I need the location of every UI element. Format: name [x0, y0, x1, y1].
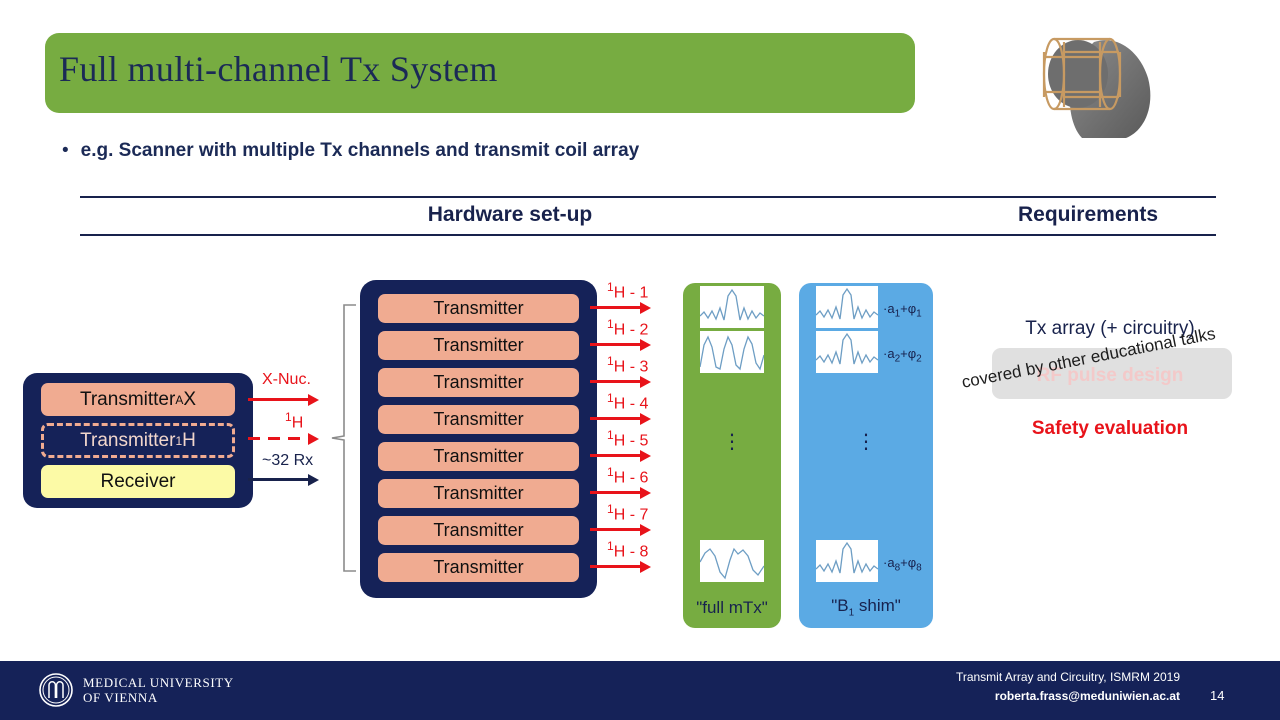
- tx-channel-8: Transmitter: [378, 553, 579, 582]
- coef-plus: +φ: [900, 555, 916, 570]
- tx-output-line-4: [590, 417, 642, 420]
- tx-channel-4: Transmitter: [378, 405, 579, 434]
- scanner-row-label: Receiver: [101, 471, 176, 493]
- txt: H - 5: [614, 432, 649, 449]
- coefficient-2: ·a2+φ2: [883, 346, 922, 365]
- scanner-row-transmitter-x: Transmitter A X: [41, 383, 235, 416]
- coef-prefix: ·a: [883, 301, 895, 316]
- scanner-row-superscript: 1: [175, 434, 182, 448]
- tx-output-line-2: [590, 343, 642, 346]
- txt: H - 2: [614, 321, 649, 338]
- sup: 1: [607, 465, 614, 479]
- tx-output-label-5: 1H - 5: [607, 428, 648, 450]
- panel-label-main: "B: [831, 596, 848, 615]
- arrow-label-x-nuc: X-Nuc.: [262, 371, 311, 389]
- tx-channel-1: Transmitter: [378, 294, 579, 323]
- fanout-bracket: [330, 303, 358, 573]
- tx-output-head-1: [640, 302, 651, 314]
- txt: H - 1: [614, 284, 649, 301]
- column-header-requirements: Requirements: [960, 203, 1216, 227]
- waveform-sinc-blue-1: [816, 286, 878, 328]
- sup: 1: [607, 391, 614, 405]
- coef-sub2: 8: [916, 563, 922, 574]
- page-title: Full multi-channel Tx System: [59, 48, 498, 90]
- bullet-text: e.g. Scanner with multiple Tx channels a…: [81, 138, 640, 164]
- arrow-line-rx: [248, 478, 310, 481]
- tx-output-label-8: 1H - 8: [607, 539, 648, 561]
- bullet-row: • e.g. Scanner with multiple Tx channels…: [62, 138, 962, 164]
- scanner-row-label: Transmitter: [80, 389, 175, 411]
- arrow-line-x-nuc: [248, 398, 310, 401]
- panel-full-mtx: ⋮ "full mTx": [683, 283, 781, 628]
- tx-output-line-5: [590, 454, 642, 457]
- tx-output-label-1: 1H - 1: [607, 280, 648, 302]
- logo-text: MEDICAL UNIVERSITY OF VIENNA: [83, 675, 234, 705]
- coef-prefix: ·a: [883, 346, 895, 361]
- tx-output-label-6: 1H - 6: [607, 465, 648, 487]
- tx-output-label-3: 1H - 3: [607, 354, 648, 376]
- tx-output-head-4: [640, 413, 651, 425]
- waveform-sinc-green: [700, 286, 764, 328]
- sup: 1: [607, 428, 614, 442]
- coef-prefix: ·a: [883, 555, 895, 570]
- vertical-ellipsis-green: ⋮: [683, 438, 781, 447]
- requirement-safety-evaluation: Safety evaluation: [960, 418, 1260, 440]
- tx-channel-5: Transmitter: [378, 442, 579, 471]
- tx-output-line-8: [590, 565, 642, 568]
- arrow-head-1h: [308, 433, 319, 445]
- sup: 1: [607, 317, 614, 331]
- arrow-label-32-rx: ~32 Rx: [262, 452, 313, 470]
- logo-emblem-icon: [38, 672, 74, 708]
- waveform-sinc-blue-2: [816, 331, 878, 373]
- tx-channel-3: Transmitter: [378, 368, 579, 397]
- panel-label-full-mtx: "full mTx": [683, 598, 781, 618]
- footer-email: roberta.frass@meduniwien.ac.at: [840, 689, 1180, 703]
- coefficient-1: ·a1+φ1: [883, 301, 922, 320]
- panel-b1-shim: ·a1+φ1 ·a2+φ2 ⋮ ·a8+φ8 "B1 shim": [799, 283, 933, 628]
- scanner-row-nucleus: H: [182, 430, 196, 452]
- arrow-head-rx: [308, 474, 319, 486]
- arrow-line-1h-dashed: [248, 437, 310, 440]
- tx-output-head-2: [640, 339, 651, 351]
- waveform-sinusoid-green: [700, 331, 764, 373]
- sup: 1: [607, 502, 614, 516]
- scanner-row-superscript: A: [175, 393, 183, 407]
- logo-line-2: OF VIENNA: [83, 690, 234, 705]
- birdcage-coil-photo: [1022, 12, 1162, 140]
- txt: H - 8: [614, 543, 649, 560]
- coef-plus: +φ: [900, 301, 916, 316]
- coefficient-8: ·a8+φ8: [883, 555, 922, 574]
- coef-sub2: 1: [916, 309, 922, 320]
- sup: 1: [607, 280, 614, 294]
- footer-conference: Transmit Array and Circuitry, ISMRM 2019: [840, 670, 1180, 684]
- waveform-irregular-green: [700, 540, 764, 582]
- coef-sub2: 2: [916, 354, 922, 365]
- tx-output-line-7: [590, 528, 642, 531]
- arrow-label-1h-rest: H: [292, 414, 304, 431]
- txt: H - 7: [614, 506, 649, 523]
- tx-output-line-6: [590, 491, 642, 494]
- column-header-hardware: Hardware set-up: [300, 203, 720, 227]
- header-rule-bottom: [80, 234, 1216, 236]
- panel-label-tail: shim": [854, 596, 901, 615]
- scanner-box: Transmitter A X Transmitter 1 H Receiver: [23, 373, 253, 508]
- arrow-head-x-nuc: [308, 394, 319, 406]
- multi-tx-box: Transmitter Transmitter Transmitter Tran…: [360, 280, 597, 598]
- tx-channel-2: Transmitter: [378, 331, 579, 360]
- scanner-row-nucleus: X: [183, 389, 196, 411]
- txt: H - 6: [614, 469, 649, 486]
- txt: H - 4: [614, 395, 649, 412]
- txt: H - 3: [614, 358, 649, 375]
- coef-plus: +φ: [900, 346, 916, 361]
- tx-output-head-6: [640, 487, 651, 499]
- arrow-label-1h-sup: 1: [285, 410, 292, 424]
- tx-output-label-7: 1H - 7: [607, 502, 648, 524]
- sup: 1: [607, 354, 614, 368]
- tx-output-head-8: [640, 561, 651, 573]
- sup: 1: [607, 539, 614, 553]
- tx-output-label-2: 1H - 2: [607, 317, 648, 339]
- scanner-row-label: Transmitter: [80, 430, 175, 452]
- tx-output-line-1: [590, 306, 642, 309]
- scanner-row-transmitter-1h: Transmitter 1 H: [41, 423, 235, 458]
- arrow-label-1h: 1H: [285, 410, 303, 432]
- waveform-sinc-blue-8: [816, 540, 878, 582]
- tx-channel-7: Transmitter: [378, 516, 579, 545]
- tx-output-line-3: [590, 380, 642, 383]
- panel-label-b1-shim: "B1 shim": [799, 596, 933, 618]
- tx-output-head-7: [640, 524, 651, 536]
- tx-output-head-3: [640, 376, 651, 388]
- vertical-ellipsis-blue: ⋮: [799, 438, 933, 447]
- tx-output-head-5: [640, 450, 651, 462]
- tx-channel-6: Transmitter: [378, 479, 579, 508]
- scanner-row-receiver: Receiver: [41, 465, 235, 498]
- university-logo: MEDICAL UNIVERSITY OF VIENNA: [38, 672, 234, 708]
- slide-number: 14: [1210, 688, 1224, 703]
- header-rule-top: [80, 196, 1216, 198]
- tx-output-label-4: 1H - 4: [607, 391, 648, 413]
- bullet-marker: •: [62, 138, 69, 164]
- logo-line-1: MEDICAL UNIVERSITY: [83, 675, 234, 690]
